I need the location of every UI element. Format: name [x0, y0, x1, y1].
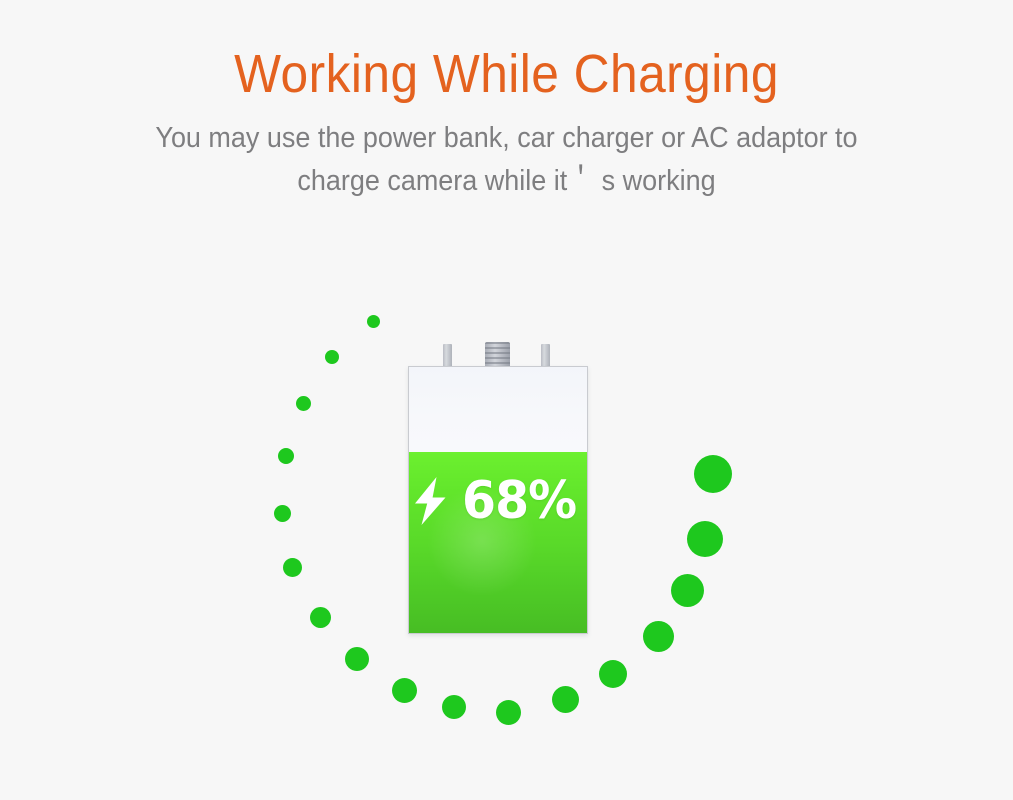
- ring-dot: [310, 607, 331, 628]
- ring-dot: [694, 455, 732, 493]
- ring-dot: [671, 574, 704, 607]
- lightning-bolt-icon: [412, 476, 449, 526]
- ring-dot: [296, 396, 311, 411]
- ring-dot: [442, 695, 466, 719]
- ring-dot: [325, 350, 339, 364]
- charge-percent-label: 68%: [462, 475, 576, 527]
- ring-dot: [599, 660, 627, 688]
- ring-dot: [345, 647, 369, 671]
- ring-dot: [496, 700, 521, 725]
- ring-dot: [643, 621, 674, 652]
- terminal-center: [485, 342, 510, 366]
- battery-empty-region: [409, 367, 587, 452]
- battery-body: 68%: [408, 366, 588, 634]
- ring-dot: [278, 448, 294, 464]
- ring-dot: [283, 558, 302, 577]
- terminal-pin-left: [443, 344, 452, 366]
- ring-dot: [552, 686, 579, 713]
- battery-fill-region: 68%: [409, 452, 587, 633]
- charging-illustration: 68%: [0, 0, 1013, 800]
- ring-dot: [274, 505, 291, 522]
- terminal-pin-right: [541, 344, 550, 366]
- ring-dot: [687, 521, 723, 557]
- ring-dot: [392, 678, 417, 703]
- ring-dot: [367, 315, 380, 328]
- charge-readout: 68%: [409, 470, 587, 532]
